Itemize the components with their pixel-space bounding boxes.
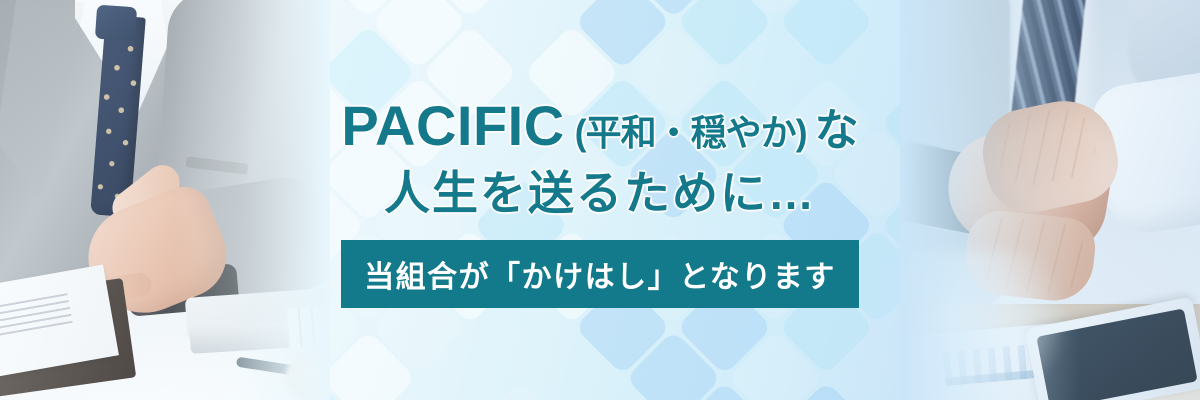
headline-pacific: PACIFIC (341, 98, 564, 154)
cta-banner[interactable]: 当組合が「かけはし」となります (341, 240, 859, 308)
banner-content: PACIFIC (平和・穏やか) な 人生を送るために… 当組合が「かけはし」と… (0, 0, 1200, 400)
cta-label: 当組合が「かけはし」となります (364, 252, 836, 296)
headline-line-2: 人生を送るために… (384, 170, 816, 216)
headline-suffix-na: な (815, 109, 859, 153)
headline-parenthetical: (平和・穏やか) (575, 115, 807, 151)
headline-line-1: PACIFIC (平和・穏やか) な (341, 98, 858, 154)
hero-banner: PACIFIC (平和・穏やか) な 人生を送るために… 当組合が「かけはし」と… (0, 0, 1200, 400)
